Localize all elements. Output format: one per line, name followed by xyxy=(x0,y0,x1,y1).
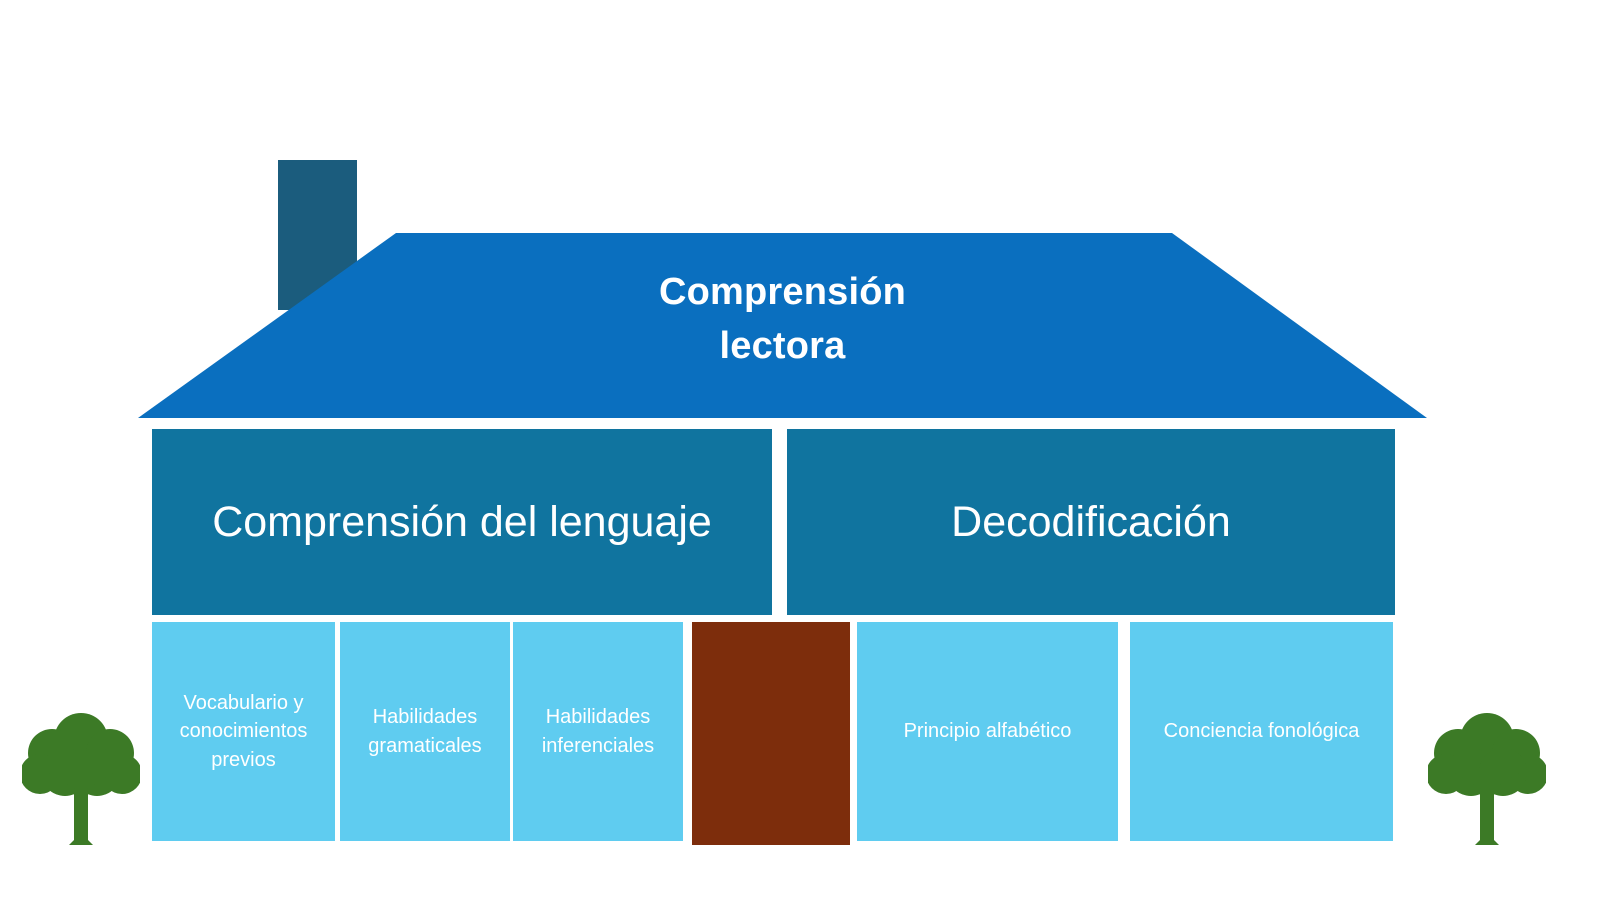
block-habilidades-inferenciales[interactable]: Habilidades inferenciales xyxy=(513,622,683,841)
door-shape[interactable] xyxy=(692,622,850,845)
tree-icon xyxy=(22,700,140,845)
roof-shape: Comprensión lectora xyxy=(130,225,1435,425)
block-habilidades-gramaticales[interactable]: Habilidades gramaticales xyxy=(340,622,510,841)
pillar-comprension-del-lenguaje[interactable]: Comprensión del lenguaje xyxy=(152,429,772,615)
block-vocabulario-conocimientos-previos[interactable]: Vocabulario y conocimientos previos xyxy=(152,622,335,841)
pillar-label: Decodificación xyxy=(951,494,1231,551)
block-label: Conciencia fonológica xyxy=(1164,717,1360,745)
block-label: Vocabulario y conocimientos previos xyxy=(162,689,325,774)
pillar-decodificacion[interactable]: Decodificación xyxy=(787,429,1395,615)
tree-icon xyxy=(1428,700,1546,845)
pillar-label: Comprensión del lenguaje xyxy=(212,494,712,551)
block-conciencia-fonologica[interactable]: Conciencia fonológica xyxy=(1130,622,1393,841)
diagram-canvas: Comprensión lectora Comprensión del leng… xyxy=(0,0,1600,900)
block-principio-alfabetico[interactable]: Principio alfabético xyxy=(857,622,1118,841)
block-label: Principio alfabético xyxy=(904,717,1072,745)
block-label: Habilidades gramaticales xyxy=(350,703,500,760)
block-label: Habilidades inferenciales xyxy=(523,703,673,760)
